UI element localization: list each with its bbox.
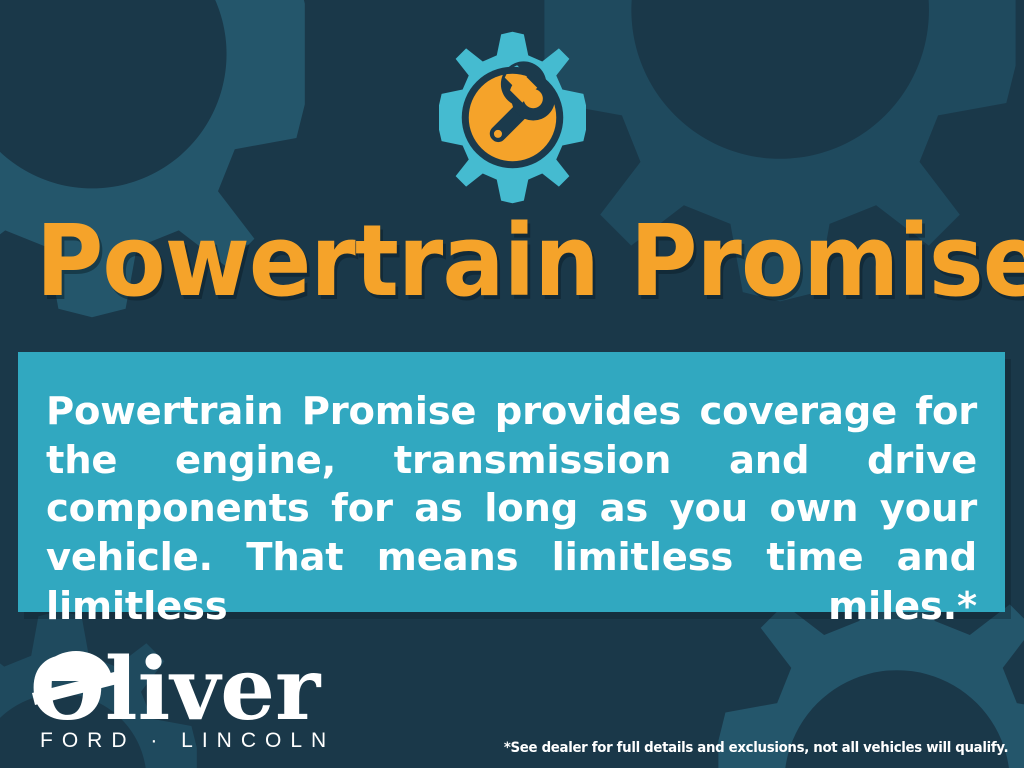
promise-description-text: Powertrain Promise provides coverage for… (46, 388, 977, 680)
powertrain-promise-poster: Powertrain Promise Powertrain Promise pr… (0, 0, 1024, 768)
gear-wrench-icon (425, 24, 600, 204)
page-title: Powertrain Promise (36, 212, 988, 311)
disclaimer-text: *See dealer for full details and exclusi… (504, 740, 1008, 756)
logo-subtitle: FORD · LINCOLN (40, 729, 330, 752)
dealer-logo: Oliver FORD · LINCOLN (30, 641, 330, 753)
promise-description-panel: Powertrain Promise provides coverage for… (18, 352, 1005, 612)
